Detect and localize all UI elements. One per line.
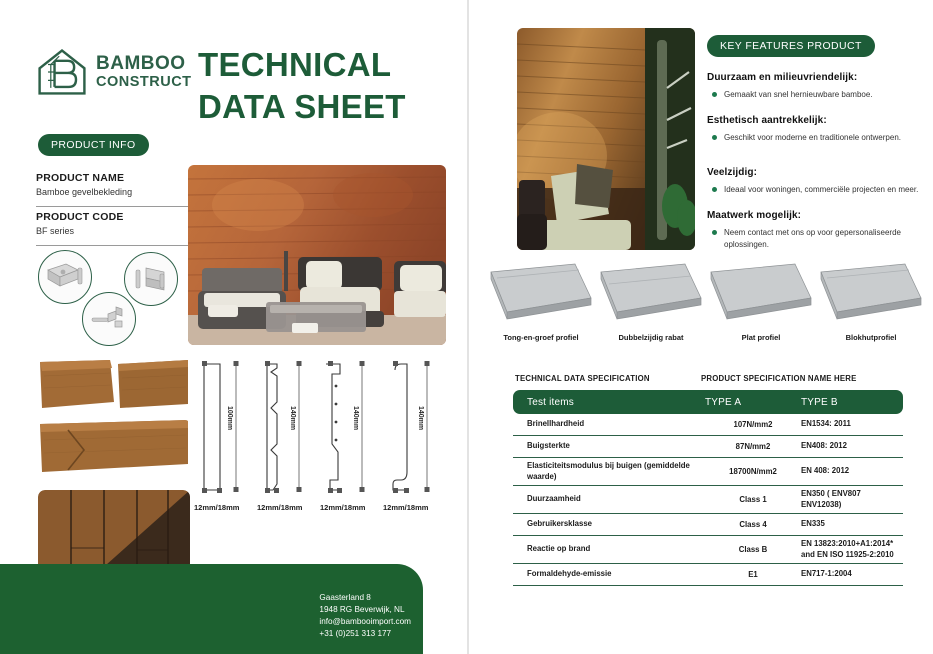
profile-drawing-4: 140mm 12mm/18mm [385, 360, 441, 520]
feature-heading-2: Veelzijdig: [707, 167, 919, 178]
profile-thickness-4: 12mm/18mm [383, 503, 428, 512]
row-type-b: EN408: 2012 [801, 441, 901, 452]
hardware-clip-image-1 [38, 250, 92, 304]
divider [36, 245, 188, 246]
plank-render-2 [599, 258, 703, 330]
product-code-value: BF series [36, 226, 188, 236]
row-item: Brinellhardheid [513, 419, 705, 430]
row-type-a: 18700N/mm2 [705, 467, 801, 476]
feature-block-3: Maatwerk mogelijk: Neem contact met ons … [707, 210, 919, 250]
column-header-test-items: Test items [513, 397, 705, 408]
data-sheet: BAMBOO CONSTRUCT TECHNICAL DATA SHEET PR… [0, 0, 933, 654]
product-application-photo [188, 165, 446, 345]
bullet-icon [712, 230, 717, 235]
bamboo-plank-photo [38, 420, 190, 475]
profile-drawing-2: 140mm 12mm/18mm [259, 360, 315, 520]
double-rabbet-section-icon [259, 360, 315, 505]
profile-height-4: 140mm [417, 406, 424, 430]
row-type-b: EN 13823:2010+A1:2014* and EN ISO 11925-… [801, 539, 901, 560]
row-type-a: Class 4 [705, 520, 801, 529]
footer-contact-info: Gaasterland 8 1948 RG Beverwijk, NL info… [319, 592, 411, 640]
row-item: Duurzaamheid [513, 494, 705, 505]
product-info-badge: PRODUCT INFO [38, 134, 149, 156]
feature-text-3: Neem contact met ons op voor gepersonali… [724, 227, 919, 250]
profile-label-4: Blokhutprofiel [813, 333, 929, 342]
brand-logo: BAMBOO CONSTRUCT [34, 44, 192, 100]
row-type-a: E1 [705, 570, 801, 579]
profile-height-2: 140mm [289, 406, 296, 430]
row-item: Buigsterkte [513, 441, 705, 452]
row-type-a: Class 1 [705, 495, 801, 504]
row-type-a: 87N/mm2 [705, 442, 801, 451]
mounting-bracket-icon [44, 260, 86, 294]
ambient-lighting-photo [517, 28, 695, 250]
feature-block-0: Duurzaam en milieuvriendelijk: Gemaakt v… [707, 72, 919, 101]
feature-text-1: Geschikt voor moderne en traditionele on… [724, 132, 901, 144]
row-type-b: EN335 [801, 519, 901, 530]
profile-label-3: Plat profiel [703, 333, 819, 342]
hardware-clip-image-3 [82, 292, 136, 346]
product-code-label: PRODUCT CODE [36, 211, 188, 223]
product-code-field: PRODUCT CODE BF series [36, 211, 188, 246]
footer-band: Gaasterland 8 1948 RG Beverwijk, NL info… [0, 564, 423, 654]
key-features-badge: KEY FEATURES PRODUCT [707, 35, 875, 57]
profile-height-1: 100mm [226, 406, 233, 430]
profile-thickness-3: 12mm/18mm [320, 503, 365, 512]
page-title: TECHNICAL DATA SHEET [198, 44, 448, 128]
row-item: Formaldehyde-emissie [513, 569, 705, 580]
bullet-icon [712, 187, 717, 192]
table-row: Brinellhardheid 107N/mm2 EN1534: 2011 [513, 414, 903, 436]
product-name-label: PRODUCT NAME [36, 172, 188, 184]
profile-label-2: Dubbelzijdig rabat [593, 333, 709, 342]
product-name-field: PRODUCT NAME Bamboe gevelbekleding [36, 172, 188, 207]
patio-scene-image [188, 165, 446, 345]
mounting-bracket-icon [130, 262, 172, 296]
tongue-groove-section-icon [196, 360, 252, 505]
row-type-b: EN717-1:2004 [801, 569, 901, 580]
table-caption-right: PRODUCT SPECIFICATION NAME HERE [701, 374, 857, 383]
plank-render-4 [819, 258, 923, 330]
table-row: Formaldehyde-emissie E1 EN717-1:2004 [513, 564, 903, 586]
row-type-b: EN 408: 2012 [801, 466, 901, 477]
table-row: Buigsterkte 87N/mm2 EN408: 2012 [513, 436, 903, 458]
column-header-type-a: TYPE A [705, 397, 801, 408]
table-row: Reactie op brand Class B EN 13823:2010+A… [513, 536, 903, 564]
hardware-clip-image-2 [124, 252, 178, 306]
page-right: KEY FEATURES PRODUCT Duurzaam en milieuv… [469, 0, 933, 654]
profile-label-1: Tong-en-groef profiel [483, 333, 599, 342]
feature-block-2: Veelzijdig: Ideaal voor woningen, commer… [707, 167, 919, 196]
plank-3d-icon [599, 258, 703, 330]
technical-data-table: Test items TYPE A TYPE B Brinellhardheid… [513, 390, 903, 586]
table-row: Duurzaamheid Class 1 EN350 ( ENV807 ENV1… [513, 486, 903, 514]
profile-thickness-2: 12mm/18mm [257, 503, 302, 512]
table-row: Elasticiteitsmodulus bij buigen (gemidde… [513, 458, 903, 486]
bamboo-board-sample-2 [38, 420, 190, 475]
table-header-row: Test items TYPE A TYPE B [513, 390, 903, 414]
log-cabin-profile-section-icon [385, 360, 441, 505]
mounting-bracket-icon [88, 302, 130, 336]
page-left: BAMBOO CONSTRUCT TECHNICAL DATA SHEET PR… [0, 0, 467, 654]
profile-drawing-1: 100mm 12mm/18mm [196, 360, 252, 520]
table-row: Gebruikersklasse Class 4 EN335 [513, 514, 903, 536]
plank-3d-icon [819, 258, 923, 330]
profile-drawing-3: 140mm 12mm/18mm [322, 360, 378, 520]
footer-address-line2: 1948 RG Beverwijk, NL [319, 604, 411, 616]
mounting-hardware-images [36, 248, 188, 348]
row-item: Gebruikersklasse [513, 519, 705, 530]
profile-thickness-1: 12mm/18mm [194, 503, 239, 512]
feature-block-1: Esthetisch aantrekkelijk: Geschikt voor … [707, 115, 919, 144]
feature-heading-0: Duurzaam en milieuvriendelijk: [707, 72, 919, 83]
row-type-b: EN1534: 2011 [801, 419, 901, 430]
row-type-a: Class B [705, 545, 801, 554]
footer-phone[interactable]: +31 (0)251 313 177 [319, 628, 411, 640]
row-type-a: 107N/mm2 [705, 420, 801, 429]
plank-3d-icon [709, 258, 813, 330]
footer-email[interactable]: info@bambooimport.com [319, 616, 411, 628]
row-item: Elasticiteitsmodulus bij buigen (gemidde… [513, 461, 705, 482]
table-caption-left: TECHNICAL DATA SPECIFICATION [515, 374, 650, 383]
product-name-value: Bamboe gevelbekleding [36, 187, 188, 197]
plank-3d-icon [489, 258, 593, 330]
row-item: Reactie op brand [513, 544, 705, 555]
column-header-type-b: TYPE B [801, 397, 901, 408]
logo-text-bamboo: BAMBOO [96, 54, 192, 73]
plank-renderings: Tong-en-groef profiel Dubbelzijdig rabat… [487, 258, 927, 330]
feature-text-2: Ideaal voor woningen, commerciële projec… [724, 184, 918, 196]
profile-height-3: 140mm [352, 406, 359, 430]
plank-render-1 [489, 258, 593, 330]
night-patio-image [517, 28, 695, 250]
bamboo-board-sample-1 [38, 358, 190, 418]
logo-text-construct: CONSTRUCT [96, 75, 192, 90]
bamboo-plank-photo [38, 358, 190, 418]
bullet-icon [712, 92, 717, 97]
bullet-icon [712, 135, 717, 140]
footer-address-line1: Gaasterland 8 [319, 592, 411, 604]
flat-profile-section-icon [322, 360, 378, 505]
feature-text-0: Gemaakt van snel hernieuwbare bamboe. [724, 89, 873, 101]
profile-cross-sections: 100mm 12mm/18mm 140mm 12mm/18mm [196, 360, 448, 520]
plank-render-3 [709, 258, 813, 330]
divider [36, 206, 188, 207]
row-type-b: EN350 ( ENV807 ENV12038) [801, 489, 901, 510]
feature-heading-3: Maatwerk mogelijk: [707, 210, 919, 221]
bamboo-house-logo-icon [34, 44, 90, 100]
feature-heading-1: Esthetisch aantrekkelijk: [707, 115, 919, 126]
